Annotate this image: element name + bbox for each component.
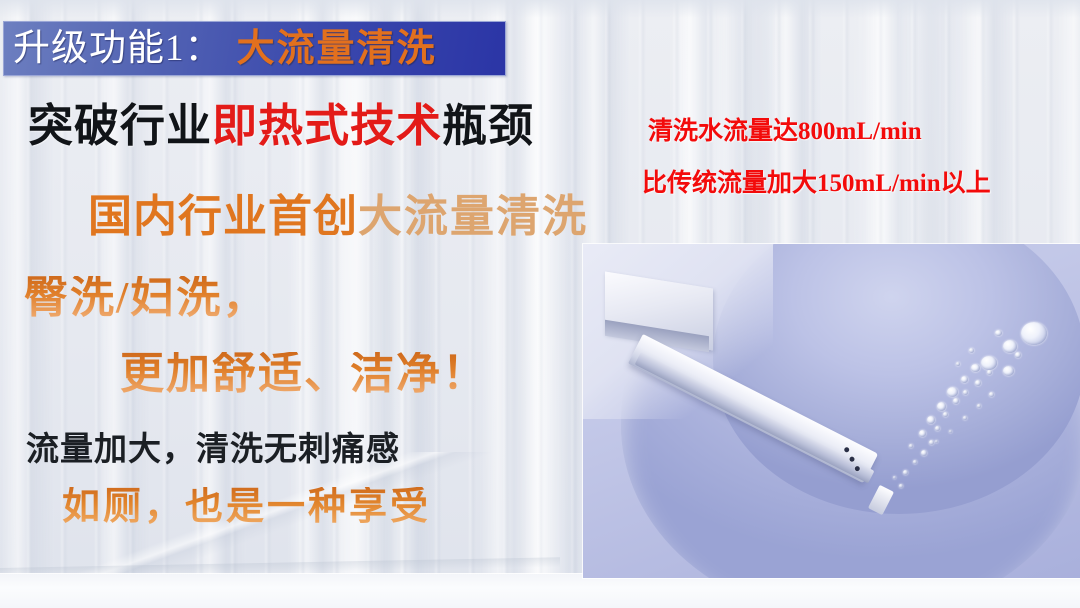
spec-flow-increase: 比传统流量加大150mL/min以上 [642, 171, 991, 196]
headline-breakthrough-prefix: 突破行业 [28, 101, 212, 151]
headline-first-in-industry: 国内行业首创大流量清洗 [88, 195, 588, 239]
background-floor [0, 574, 1080, 608]
headline-first-soft: 大流量清洗 [358, 192, 588, 241]
slide-root: 升级功能1： 大流量清洗 突破行业即热式技术瓶颈 国内行业首创大流量清洗 臀洗/… [0, 0, 1080, 608]
title-banner: 升级功能1： 大流量清洗 [3, 21, 506, 76]
spec-flow-rate: 清洗水流量达800mL/min [648, 119, 922, 144]
copy-higher-flow-no-sting: 流量加大，清洗无刺痛感 [26, 432, 400, 465]
water-spray [583, 244, 1080, 578]
copy-toilet-is-enjoyment: 如厕，也是一种享受 [62, 487, 431, 525]
headline-first-strong: 国内行业首创 [88, 192, 358, 241]
background-top-band [0, 0, 1080, 18]
copy-more-comfortable: 更加舒适、洁净！ [120, 352, 488, 396]
bidet-nozzle-spray-photo [583, 244, 1080, 578]
headline-breakthrough: 突破行业即热式技术瓶颈 [28, 104, 534, 149]
banner-title-left: 升级功能1： [4, 30, 223, 67]
headline-breakthrough-suffix: 瓶颈 [442, 101, 534, 151]
copy-wash-modes: 臀洗/妇洗， [24, 276, 268, 320]
banner-title-right: 大流量清洗 [223, 30, 437, 68]
headline-breakthrough-highlight: 即热式技术 [212, 101, 442, 151]
